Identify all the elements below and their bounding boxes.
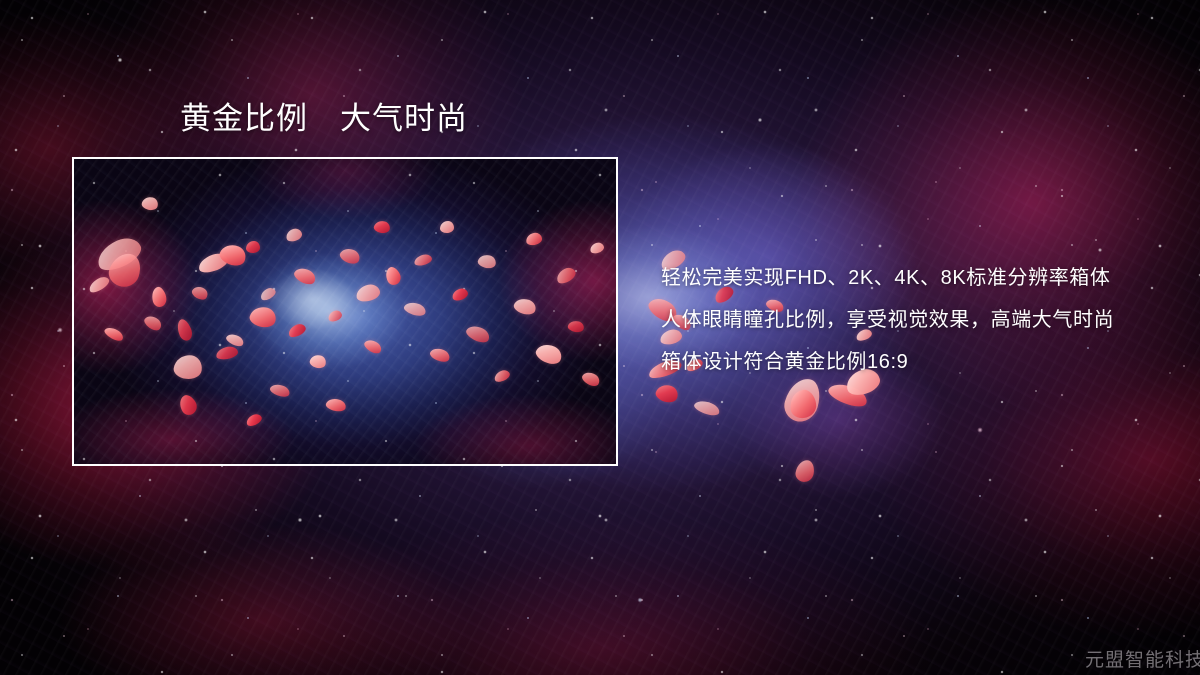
petal [826,379,870,411]
petal [654,382,680,405]
petal [525,232,543,247]
body-line-2: 人体眼睛瞳孔比例，享受视觉效果，高端大气时尚 [661,299,1114,341]
petal [325,397,347,413]
petal [383,265,403,287]
petal [217,241,249,269]
petal [327,309,344,323]
petal [248,304,278,330]
petal [533,340,564,367]
petal [141,195,160,211]
petal [93,233,146,275]
petal [493,368,512,383]
preview-starfield [74,159,616,464]
petal [105,249,144,291]
preview-image-frame [72,157,618,466]
petal [464,322,492,345]
petal [176,392,200,417]
petal [580,369,602,388]
preview-core-glow [74,159,616,464]
preview-red-nebula [74,159,616,464]
petal [87,274,112,295]
preview-base [74,159,616,464]
watermark: 元盟智能科技 [1085,645,1200,672]
petal [269,382,292,399]
petal [477,253,498,270]
petal [788,388,818,419]
petal [794,459,816,484]
presentation-slide: 黄金比例 大气时尚 轻松完美实现FHD、2K、4K、8K标准分辨率箱体 人体眼睛… [0,0,1200,675]
petal [103,325,125,344]
petal [451,287,470,302]
petal [287,322,308,339]
body-line-3: 箱体设计符合黄金比例16:9 [661,341,1114,383]
petal [403,300,428,318]
petal [554,265,578,286]
petal [338,246,362,267]
petal [309,353,328,370]
petal [246,241,260,253]
petal [245,412,264,428]
petal [142,313,164,333]
petal [567,319,585,333]
petal [190,284,210,302]
petal [172,353,203,381]
petal [259,286,278,302]
petal [292,265,318,288]
petal [150,286,168,309]
petal [413,253,433,267]
petal [693,398,722,418]
body-line-1: 轻松完美实现FHD、2K、4K、8K标准分辨率箱体 [661,257,1114,299]
page-title: 黄金比例 大气时尚 [180,101,468,137]
petal [215,345,239,361]
petal [373,220,391,235]
preview-wisps [74,159,616,464]
petal [428,346,451,365]
petal [589,241,605,254]
petal [355,283,382,304]
petal [440,221,454,233]
petal [196,251,229,275]
petal [225,332,246,349]
petal [362,337,383,356]
petal [174,317,194,342]
body-text-block: 轻松完美实现FHD、2K、4K、8K标准分辨率箱体 人体眼睛瞳孔比例，享受视觉效… [661,257,1114,383]
petal [285,227,304,243]
petal [512,296,538,317]
